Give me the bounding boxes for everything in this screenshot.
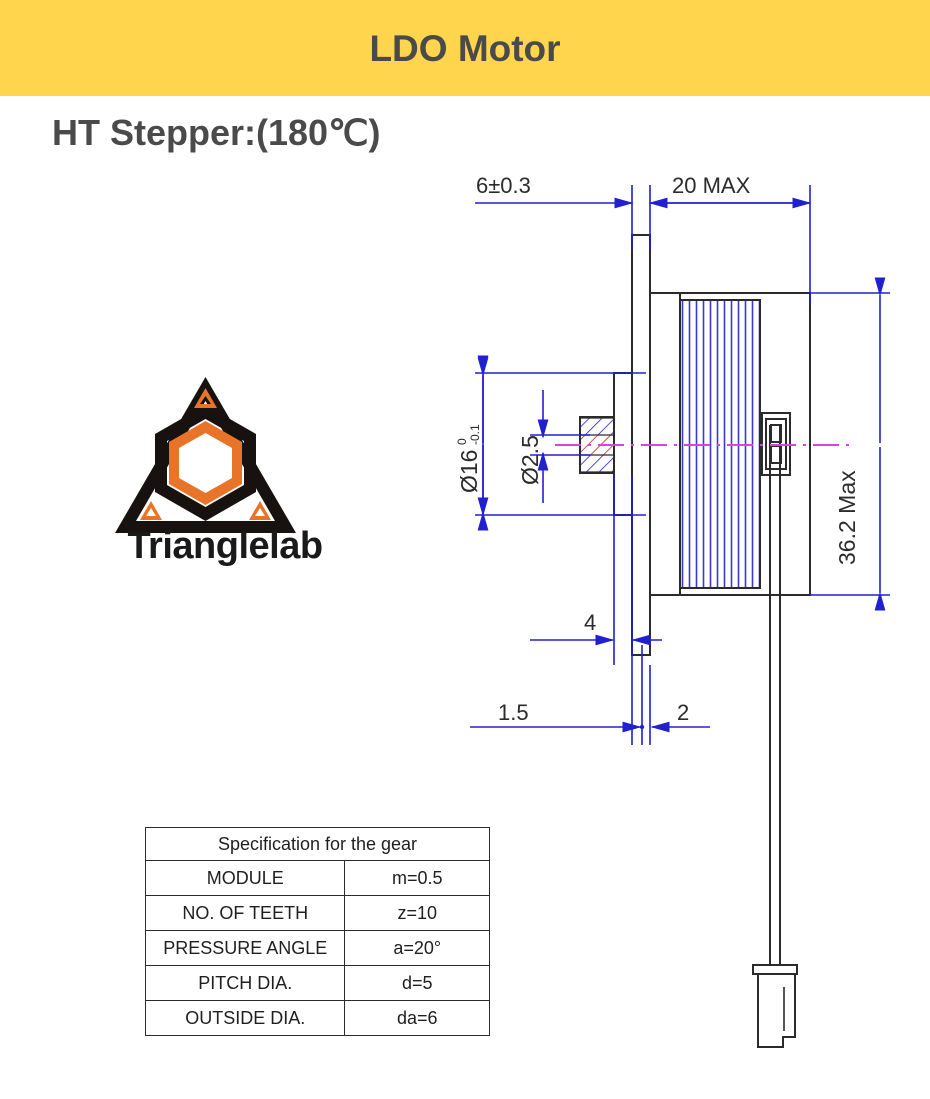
dim-text-body-diameter: 36.2 Max [834,470,860,565]
spec-value: z=10 [345,896,490,931]
table-row-title: Specification for the gear [146,828,490,861]
table-row: PRESSURE ANGLE a=20° [146,931,490,966]
table-row: NO. OF TEETH z=10 [146,896,490,931]
spec-label: PRESSURE ANGLE [146,931,345,966]
dim-text-step: 2 [677,700,689,725]
svg-text:Ø16: Ø16 [456,450,482,493]
brand-logo: Trianglelab [75,375,375,590]
spec-table-body: Specification for the gear MODULE m=0.5 … [146,828,490,1036]
gear-specification-table: Specification for the gear MODULE m=0.5 … [145,827,490,1036]
cable-plug [753,965,797,1047]
table-row: PITCH DIA. d=5 [146,966,490,1001]
brand-wordmark: Trianglelab [75,525,375,568]
svg-text:36.2 Max: 36.2 Max [834,470,860,565]
spec-table-title: Specification for the gear [146,828,490,861]
spec-label: OUTSIDE DIA. [146,1001,345,1036]
dim-text-plate-thickness: 1.5 [498,700,529,725]
spec-value: da=6 [345,1001,490,1036]
dim-text-gear-length: 4 [584,610,596,635]
table-row: MODULE m=0.5 [146,861,490,896]
triangle-hexagon-logo-icon [113,375,298,535]
spec-label: MODULE [146,861,345,896]
motor-technical-drawing: 6±0.3 20 MAX Ø16 0 -0.1 Ø2.5 36.2 Max 4 … [450,175,930,1075]
spec-value: d=5 [345,966,490,1001]
spec-label: NO. OF TEETH [146,896,345,931]
spec-value: a=20° [345,931,490,966]
dim-text-flange-offset: 6±0.3 [476,175,531,198]
dim-text-flange-diameter: Ø16 0 -0.1 [455,424,482,493]
dim-tol-upper: 0 [455,438,469,445]
spec-value: m=0.5 [345,861,490,896]
svg-text:Ø2.5: Ø2.5 [517,435,543,485]
motor-cable [770,425,780,965]
dim-text-shaft-diameter: Ø2.5 [517,435,543,485]
page-title: LDO Motor [369,30,560,67]
header-banner: LDO Motor [0,0,930,96]
plug-body [758,974,795,1047]
table-row: OUTSIDE DIA. da=6 [146,1001,490,1036]
dim-text-body-length: 20 MAX [672,175,751,198]
product-spec-page: LDO Motor HT Stepper:(180℃) Trianglelab [0,0,930,1099]
dim-tol-lower: -0.1 [468,424,482,445]
subtitle-heading: HT Stepper:(180℃) [52,112,380,154]
spec-label: PITCH DIA. [146,966,345,1001]
plug-collar [753,965,797,974]
